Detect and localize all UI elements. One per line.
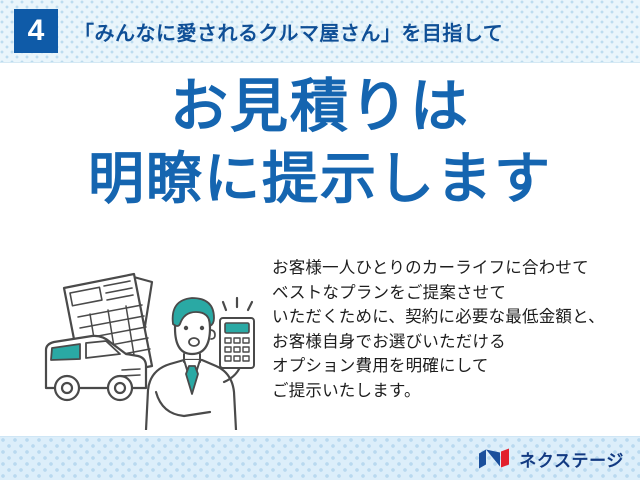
illustration-group [34, 262, 266, 430]
header-title: 「みんなに愛されるクルマ屋さん」を目指して [74, 17, 503, 46]
headline-line-1: お見積りは [0, 76, 640, 139]
copy-line-3: いただくために、契約に必要な最低金額と、 [272, 305, 632, 330]
brand-name: ネクステージ [519, 446, 624, 471]
copy-line-1: お客様一人ひとりのカーライフに合わせて [272, 256, 632, 281]
body-copy: お客様一人ひとりのカーライフに合わせて ベストなプランをご提案させて いただくた… [272, 256, 632, 403]
section-number-badge: 4 [14, 9, 58, 53]
promotional-banner: 4 「みんなに愛されるクルマ屋さん」を目指して お見積りは 明瞭に提示します [0, 0, 640, 480]
nexstage-n-mark-icon [478, 447, 512, 470]
copy-line-4: お客様自身でお選びいただける [272, 330, 632, 355]
header-band: 4 「みんなに愛されるクルマ屋さん」を目指して [0, 0, 640, 63]
headline-block: お見積りは 明瞭に提示します [0, 76, 640, 209]
copy-line-2: ベストなプランをご提案させて [272, 281, 632, 306]
calculator [220, 318, 254, 368]
headline-line-2: 明瞭に提示します [0, 149, 640, 209]
brand-logo: ネクステージ [478, 446, 624, 471]
illustration-svg [34, 262, 266, 430]
copy-line-6: ご提示いたします。 [272, 379, 632, 404]
sparkle-icon [223, 298, 252, 310]
copy-line-5: オプション費用を明確にして [272, 354, 632, 379]
footer-band: ネクステージ [0, 436, 640, 480]
